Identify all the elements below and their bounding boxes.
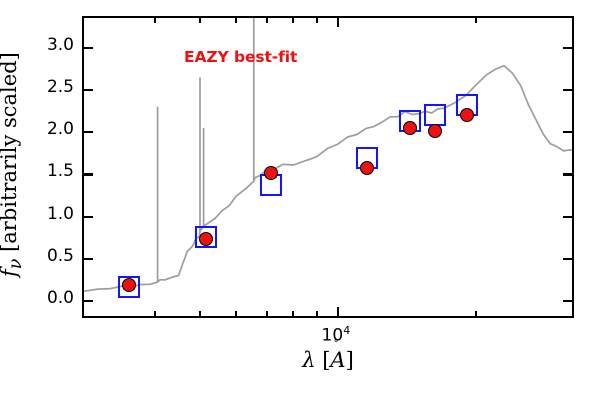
y-tick [563,173,572,175]
model-photometry-square [424,104,446,126]
x-tick-minor [154,18,156,23]
y-tick [563,216,572,218]
y-tick [84,131,93,133]
figure-canvas: fν [arbitrarily scaled] λ [A˚] EAZY best… [0,0,600,400]
legend-label: EAZY best-fit [184,48,297,66]
y-tick-label: 1.0 [14,206,74,223]
observed-photometry-point [122,278,136,292]
observed-photometry-point [264,166,278,180]
y-tick-label: 0.5 [14,248,74,265]
y-tick [563,258,572,260]
y-tick [563,300,572,302]
y-tick [563,89,572,91]
x-tick-minor [475,311,477,316]
y-tick [84,173,93,175]
x-axis-title: λ [A˚] [82,348,574,372]
x-tick-minor [154,311,156,316]
x-tick-major [337,307,339,316]
x-tick-minor [199,311,201,316]
x-tick-label: 104 [322,324,351,346]
y-tick-label: 0.0 [14,290,74,307]
observed-photometry-point [403,121,417,135]
plot-area: EAZY best-fit [82,16,574,318]
x-tick-minor [199,18,201,23]
y-tick-label: 2.5 [14,79,74,96]
y-tick [563,47,572,49]
y-tick [563,131,572,133]
x-tick-minor [475,18,477,23]
y-tick-label: 2.0 [14,121,74,138]
plot-clip [84,18,572,316]
x-tick-minor [316,18,318,23]
y-tick [84,258,93,260]
x-tick-minor [266,311,268,316]
y-tick [84,89,93,91]
y-tick [84,216,93,218]
x-tick-minor [266,18,268,23]
x-tick-minor [235,311,237,316]
x-tick-minor [292,18,294,23]
spectrum-curve [84,18,572,316]
y-tick [84,47,93,49]
x-tick-minor [316,311,318,316]
x-tick-major [337,18,339,27]
y-tick [84,300,93,302]
x-tick-minor [292,311,294,316]
x-tick-minor [235,18,237,23]
y-tick-label: 3.0 [14,37,74,54]
observed-photometry-point [199,232,213,246]
y-tick-label: 1.5 [14,163,74,180]
